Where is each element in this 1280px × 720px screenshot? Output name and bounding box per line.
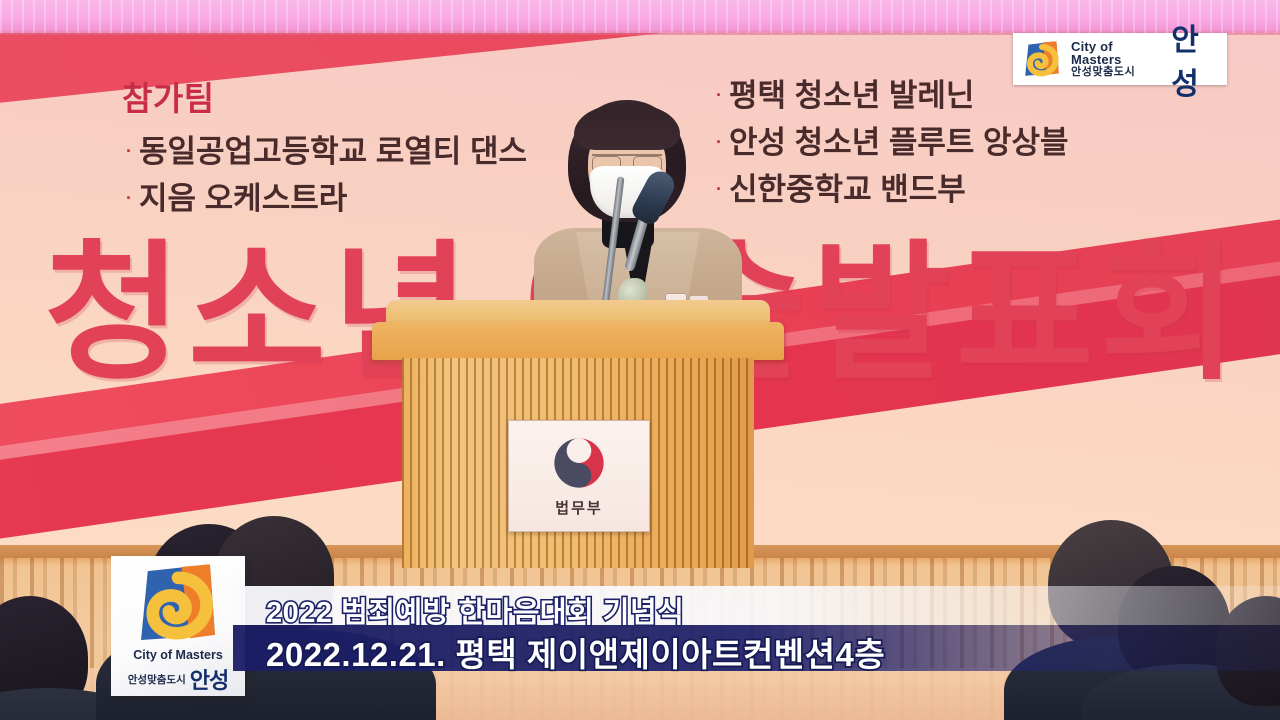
bullet-icon: · [126, 188, 132, 208]
list-item-label: 안성 청소년 플루트 앙상블 [729, 125, 1069, 160]
list-item: ·지음 오케스트라 [126, 175, 527, 222]
anseong-sign-english: City of Masters [133, 648, 223, 662]
anseong-swirl-icon [1021, 39, 1063, 79]
anseong-sign-korean: 안성맞춤도시 안성 [128, 663, 228, 695]
taegeuk-icon [551, 435, 607, 491]
anseong-logo-text: City of Masters 안성맞춤도시 [1071, 40, 1157, 79]
podium-top [372, 322, 784, 360]
anseong-logo-korean-big: 안성 [1171, 15, 1219, 103]
caption-line-1: 2022 범죄예방 한마음대회 기념식 [266, 589, 684, 631]
anseong-sign-korean-big: 안성 [190, 663, 228, 695]
list-item-label: 지음 오케스트라 [139, 181, 347, 216]
caption-line-2: 2022.12.21. 평택 제이앤제이아트컨벤션4층 [266, 628, 885, 676]
ceiling-strip [0, 0, 1280, 33]
anseong-logo-english: City of Masters [1071, 40, 1157, 67]
anseong-podium-sign: City of Masters 안성맞춤도시 안성 [111, 556, 245, 696]
podium-plaque: 법무부 [508, 420, 650, 532]
anseong-logo-korean-small: 안성맞춤도시 [1071, 67, 1157, 79]
list-item-label: 평택 청소년 발레닌 [729, 78, 974, 113]
participants-heading: 참가팀 [122, 72, 215, 120]
speaker-hair-fringe [574, 104, 680, 150]
bullet-icon: · [126, 141, 132, 161]
list-item: ·신한중학교 밴드부 [716, 166, 1069, 213]
list-item: ·동일공업고등학교 로열티 댄스 [126, 128, 527, 175]
podium-plaque-label: 법무부 [555, 497, 602, 518]
anseong-logo-top-right: City of Masters 안성맞춤도시 안성 [1013, 33, 1227, 85]
list-item: ·안성 청소년 플루트 앙상블 [716, 119, 1069, 166]
participants-left-column: ·동일공업고등학교 로열티 댄스 ·지음 오케스트라 [126, 128, 527, 222]
video-frame: 청소년 예술발표회 참가팀 ·동일공업고등학교 로열티 댄스 ·지음 오케스트라… [0, 0, 1280, 720]
anseong-sign-korean-small: 안성맞춤도시 [128, 672, 186, 687]
anseong-swirl-icon [135, 561, 221, 645]
list-item-label: 동일공업고등학교 로열티 댄스 [139, 134, 527, 169]
list-item-label: 신한중학교 밴드부 [729, 172, 966, 207]
participants-right-column: ·평택 청소년 발레닌 ·안성 청소년 플루트 앙상블 ·신한중학교 밴드부 [716, 72, 1069, 213]
